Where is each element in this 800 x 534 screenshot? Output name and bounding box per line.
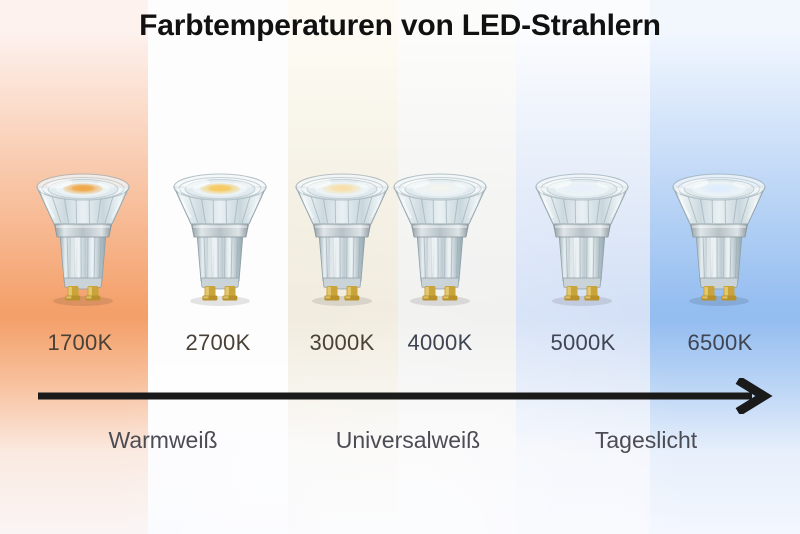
led-spotlight-icon (663, 160, 775, 310)
kelvin-label-5000k: 5000K (513, 330, 653, 356)
led-bulb-3000k (286, 160, 398, 310)
page-title: Farbtemperaturen von LED-Strahlern (0, 9, 800, 43)
temperature-scale-arrow (0, 378, 800, 414)
right-arrow-icon (0, 378, 800, 414)
color-temperature-infographic: Farbtemperaturen von LED-Strahlern (0, 0, 800, 534)
kelvin-label-2700k: 2700K (148, 330, 288, 356)
led-spotlight-icon (526, 160, 638, 310)
led-bulb-4000k (384, 160, 496, 310)
kelvin-label-6500k: 6500K (650, 330, 790, 356)
led-spotlight-icon (286, 160, 398, 310)
led-bulb-5000k (526, 160, 638, 310)
led-spotlight-icon (384, 160, 496, 310)
kelvin-label-1700k: 1700K (10, 330, 150, 356)
led-spotlight-icon (27, 160, 139, 310)
kelvin-label-4000k: 4000K (370, 330, 510, 356)
led-bulb-2700k (164, 160, 276, 310)
category-label-2: Tageslicht (508, 427, 784, 454)
led-spotlight-icon (164, 160, 276, 310)
led-bulb-1700k (27, 160, 139, 310)
led-bulb-6500k (663, 160, 775, 310)
